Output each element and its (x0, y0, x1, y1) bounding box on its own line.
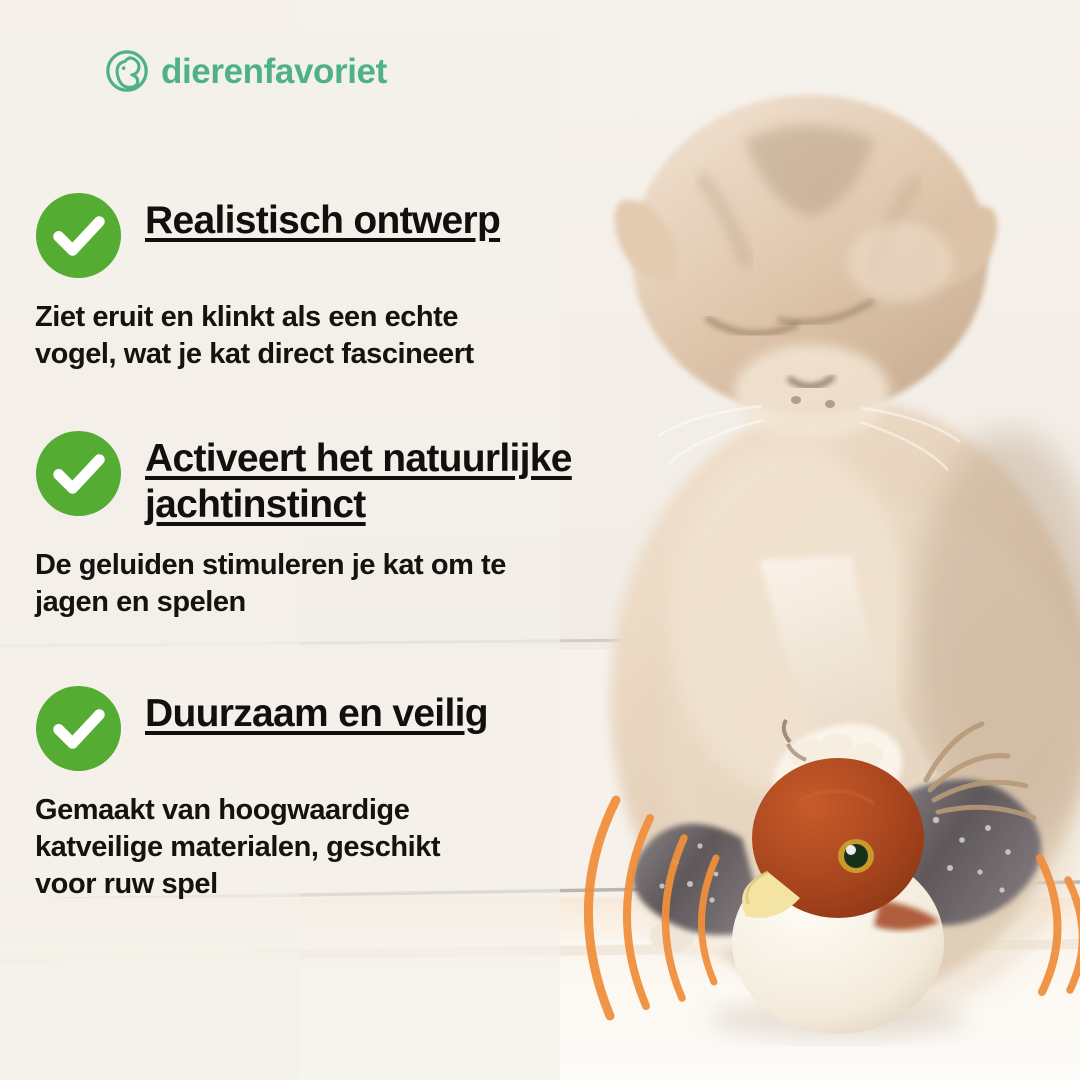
feature-title: Activeert het natuurlijke jachtinstinct (145, 437, 572, 526)
feature-heading-row: Activeert het natuurlijke jachtinstinct (0, 430, 620, 528)
feature-text-overlay: dierenfavoriet Realistisch ontwerp Ziet … (0, 0, 640, 1080)
check-circle-icon (35, 192, 122, 279)
feature-heading-row: Realistisch ontwerp (0, 192, 620, 280)
check-circle-icon (35, 430, 122, 517)
feature-item: Realistisch ontwerp Ziet eruit en klinkt… (0, 192, 620, 373)
check-circle-icon (35, 685, 122, 772)
feature-description: Gemaakt van hoogwaardige katveilige mate… (35, 792, 595, 903)
feature-title: Duurzaam en veilig (145, 692, 488, 735)
feature-item: Activeert het natuurlijke jachtinstinct … (0, 430, 620, 621)
feature-description: De geluiden stimuleren je kat om te jage… (35, 547, 595, 621)
feature-item: Duurzaam en veilig Gemaakt van hoogwaard… (0, 685, 620, 903)
brand-name: dierenfavoriet (161, 54, 387, 89)
feature-heading-row: Duurzaam en veilig (0, 685, 620, 773)
feature-title: Realistisch ontwerp (145, 199, 500, 242)
feature-description: Ziet eruit en klinkt als een echte vogel… (35, 299, 595, 373)
product-feature-graphic: dierenfavoriet Realistisch ontwerp Ziet … (0, 0, 1080, 1080)
brand-logo[interactable]: dierenfavoriet (104, 48, 387, 94)
dog-head-in-circle-icon (104, 48, 150, 94)
